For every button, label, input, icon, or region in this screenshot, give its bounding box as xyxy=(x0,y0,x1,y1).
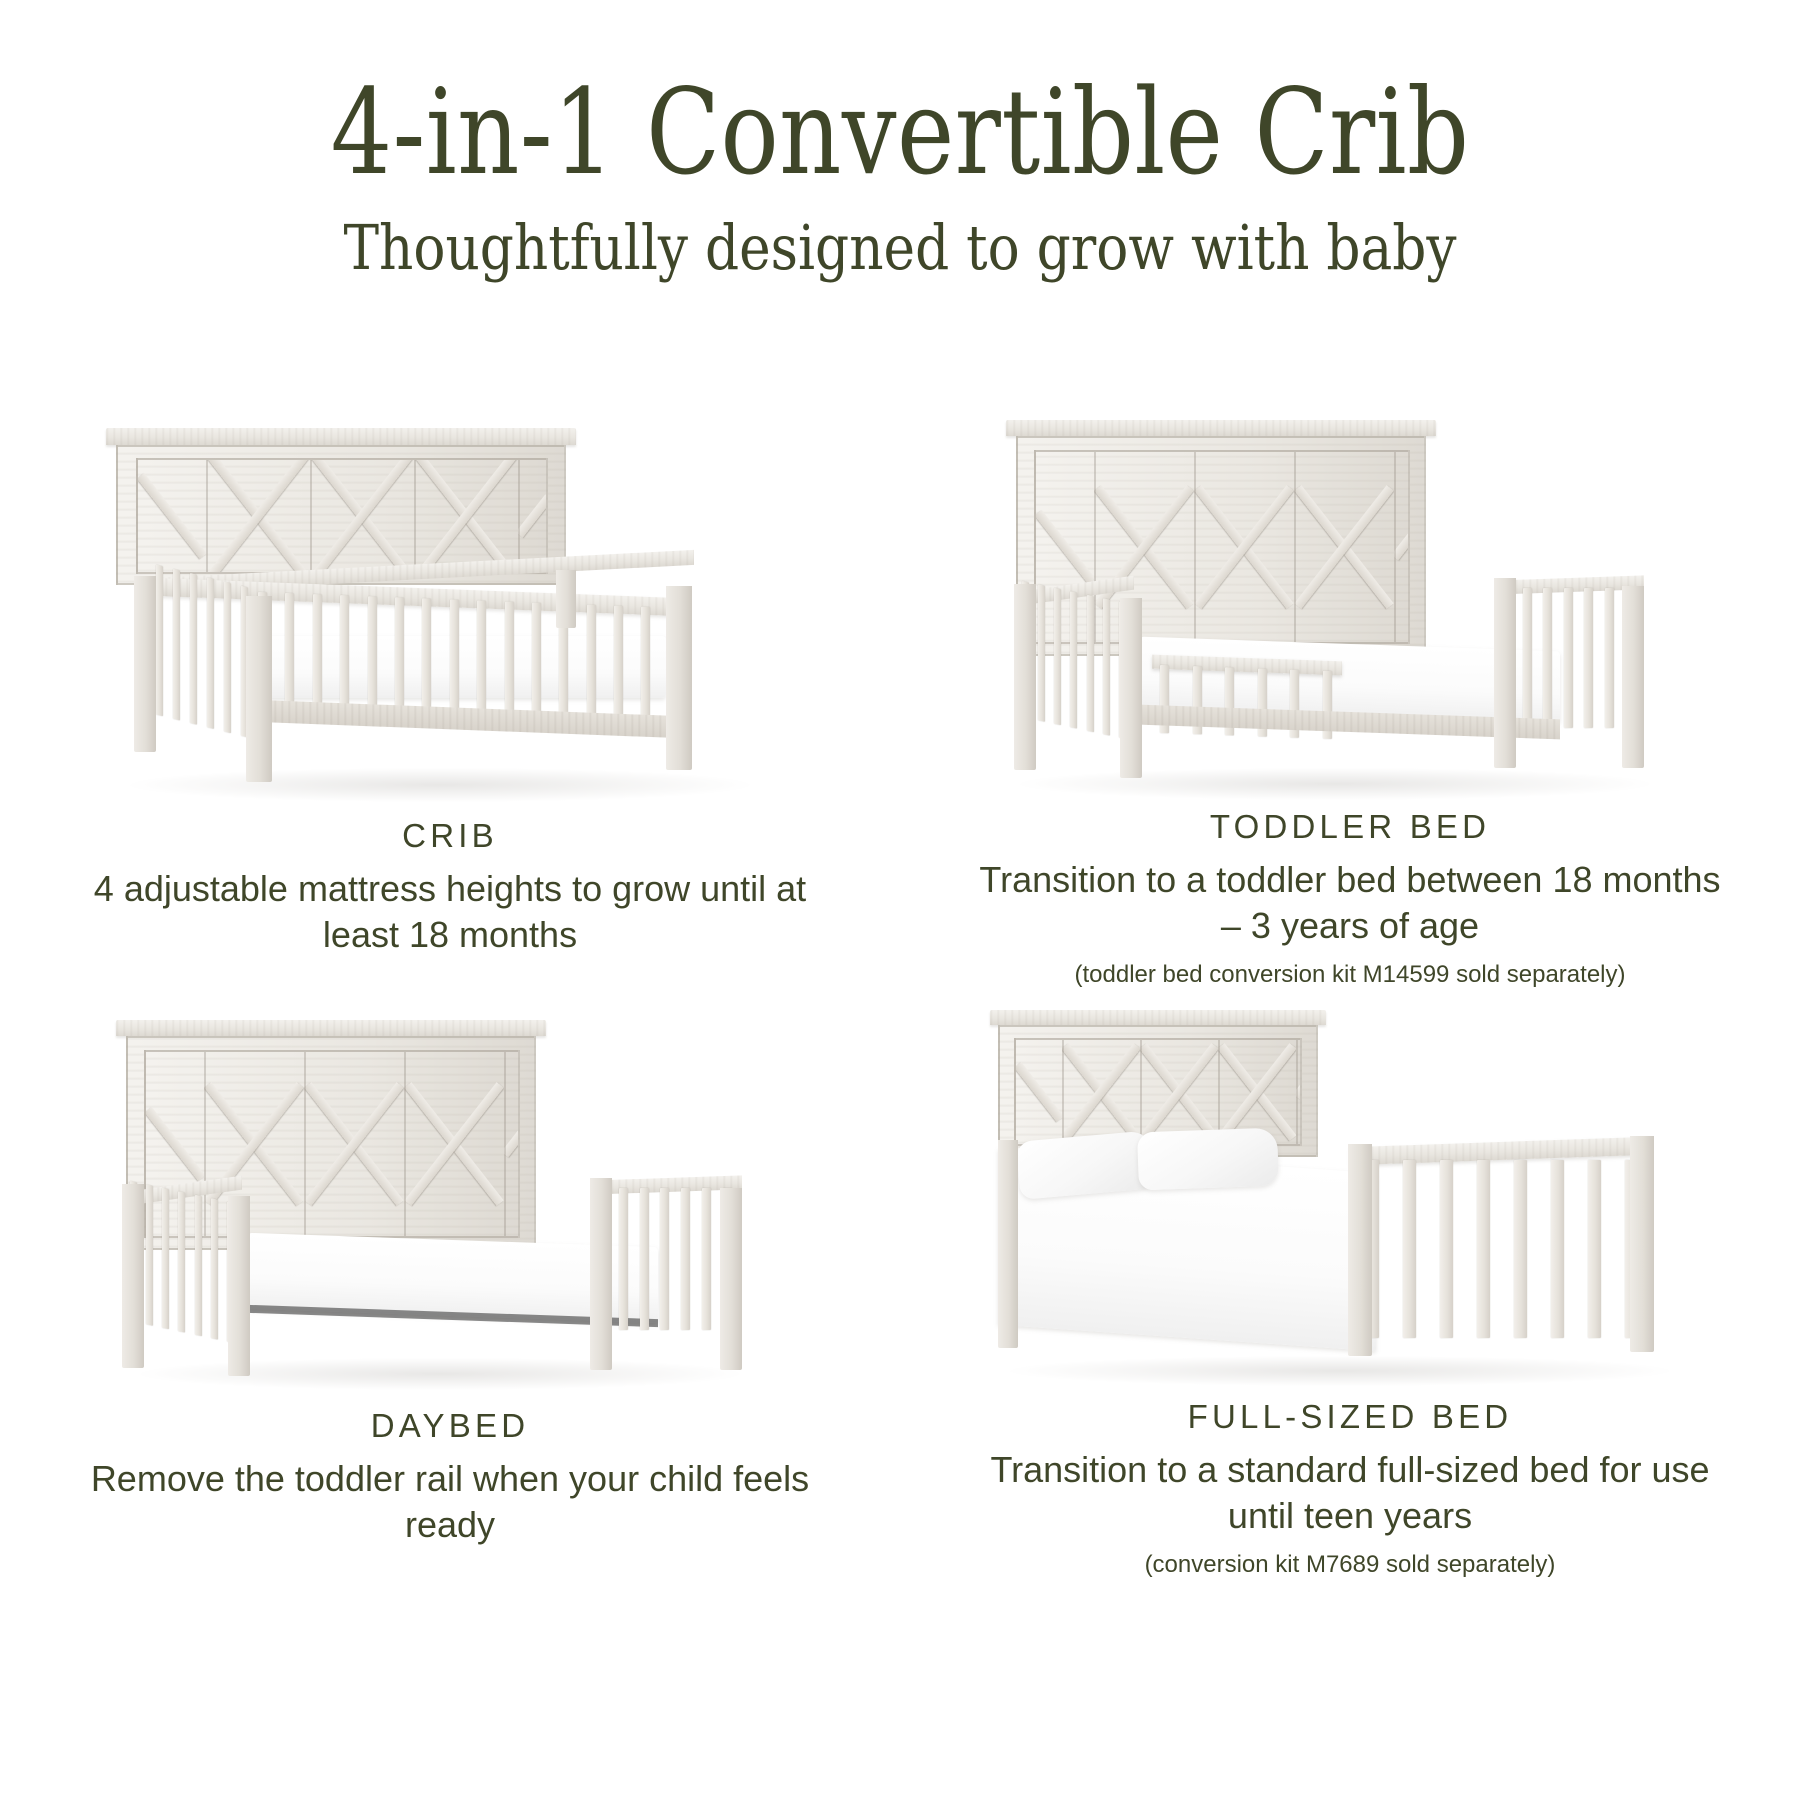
barn-x-cell xyxy=(1016,1040,1062,1144)
barn-x-cell xyxy=(414,460,518,572)
panel-full-sized-bed: FULL-SIZED BED Transition to a standard … xyxy=(900,990,1800,1580)
crib-leg-front-left xyxy=(246,596,272,782)
barn-x-cell xyxy=(1062,1040,1140,1144)
full-bed-headboard-post xyxy=(998,1140,1018,1348)
slat xyxy=(1087,595,1094,732)
pillow-left xyxy=(1016,1130,1157,1200)
slat xyxy=(1564,588,1573,728)
feature-grid: CRIB 4 adjustable mattress heights to gr… xyxy=(0,400,1800,1580)
daybed-heading: DAYBED xyxy=(70,1406,830,1446)
slat xyxy=(1543,588,1552,728)
toddler-leg-rear-right xyxy=(1494,578,1516,768)
full-bed-post-right xyxy=(1630,1136,1654,1352)
barn-x-cell xyxy=(138,460,206,572)
panel-daybed: DAYBED Remove the toddler rail when your… xyxy=(0,990,900,1580)
slat xyxy=(146,1184,153,1325)
crib-heading: CRIB xyxy=(70,816,830,856)
crib-leg-front-right xyxy=(666,586,692,770)
daybed-leg-front-left xyxy=(228,1196,250,1376)
crib-illustration xyxy=(70,400,830,810)
slat xyxy=(641,607,650,725)
slat xyxy=(173,569,180,721)
slat xyxy=(614,606,623,724)
infographic-page: 4-in-1 Convertible Crib Thoughtfully des… xyxy=(0,0,1800,1800)
slat xyxy=(178,1191,185,1332)
floor-shadow xyxy=(130,768,750,802)
barn-x-cell xyxy=(304,1052,404,1236)
slat xyxy=(1523,588,1532,728)
slat xyxy=(619,1188,628,1330)
full-sized-bed-illustration xyxy=(970,990,1730,1391)
slat xyxy=(450,599,459,717)
slat xyxy=(156,565,163,717)
plank-seam xyxy=(310,460,312,572)
slat xyxy=(207,577,214,729)
crib-headboard-barn-panel xyxy=(136,458,548,574)
slat xyxy=(505,601,514,719)
slat xyxy=(368,596,377,714)
slat xyxy=(1477,1160,1490,1338)
slat xyxy=(702,1188,711,1330)
plank-seam xyxy=(206,460,208,572)
plank-seam xyxy=(304,1052,306,1236)
slat xyxy=(224,581,231,733)
plank-seam xyxy=(1394,452,1396,642)
slat xyxy=(1514,1160,1527,1338)
toddler-bed-body: Transition to a toddler bed between 18 m… xyxy=(970,857,1730,949)
barn-x-cell xyxy=(518,460,548,572)
page-title: 4-in-1 Convertible Crib xyxy=(162,72,1638,192)
plank-seam xyxy=(1218,1040,1220,1144)
toddler-bed-illustration xyxy=(970,400,1730,801)
plank-seam xyxy=(1294,452,1296,642)
slat xyxy=(681,1188,690,1330)
plank-seam xyxy=(1062,1040,1064,1144)
full-sized-bed-caption: FULL-SIZED BED Transition to a standard … xyxy=(970,1397,1730,1580)
daybed-body: Remove the toddler rail when your child … xyxy=(70,1456,830,1548)
slat xyxy=(395,597,404,715)
plank-seam xyxy=(504,1052,506,1236)
slat xyxy=(1103,598,1110,735)
toddler-left-slat-group xyxy=(1022,581,1126,739)
daybed-right-slat-group xyxy=(598,1188,732,1330)
toddler-leg-front-right xyxy=(1622,586,1644,768)
panel-toddler-bed: TODDLER BED Transition to a toddler bed … xyxy=(900,400,1800,990)
daybed-leg-rear-right xyxy=(590,1178,612,1370)
page-subtitle: Thoughtfully designed to grow with baby xyxy=(126,214,1674,282)
daybed-left-slat-group xyxy=(130,1181,234,1343)
crib-crown-rail xyxy=(106,428,576,445)
plank-seam xyxy=(1296,1040,1298,1144)
slat xyxy=(1605,588,1614,728)
daybed-caption: DAYBED Remove the toddler rail when your… xyxy=(70,1406,830,1548)
barn-x-cell xyxy=(1194,452,1294,642)
slat xyxy=(422,598,431,716)
daybed-leg-rear-left xyxy=(122,1184,144,1368)
crib-body: 4 adjustable mattress heights to grow un… xyxy=(70,866,830,958)
header: 4-in-1 Convertible Crib Thoughtfully des… xyxy=(0,0,1800,283)
plank-seam xyxy=(1194,452,1196,642)
daybed-leg-front-right xyxy=(720,1188,742,1370)
slat xyxy=(1584,588,1593,728)
plank-seam xyxy=(1140,1040,1142,1144)
full-sized-bed-fine-print: (conversion kit M7689 sold separately) xyxy=(970,1549,1730,1580)
slat xyxy=(1440,1160,1453,1338)
slat xyxy=(477,600,486,718)
barn-x-cell xyxy=(310,460,414,572)
slat xyxy=(660,1188,669,1330)
toddler-leg-rear-left xyxy=(1014,584,1036,770)
barn-x-cell xyxy=(504,1052,520,1236)
plank-seam xyxy=(518,460,520,572)
slat xyxy=(1038,584,1045,721)
plank-seam xyxy=(414,460,416,572)
slat xyxy=(162,1188,169,1329)
crib-caption: CRIB 4 adjustable mattress heights to gr… xyxy=(70,816,830,958)
full-bed-post-left xyxy=(1348,1144,1372,1356)
toddler-crown-rail xyxy=(1006,420,1436,436)
toddler-right-slat-group xyxy=(1502,588,1634,728)
full-sized-bed-heading: FULL-SIZED BED xyxy=(970,1397,1730,1437)
pillow-right xyxy=(1137,1128,1279,1191)
full-bed-slat-group xyxy=(1366,1160,1638,1338)
crib-left-slat-group xyxy=(156,565,248,738)
slat xyxy=(640,1188,649,1330)
toddler-bed-heading: TODDLER BED xyxy=(970,807,1730,847)
full-sized-bed-body: Transition to a standard full-sized bed … xyxy=(970,1447,1730,1539)
daybed-crown-rail xyxy=(116,1020,546,1036)
panel-crib: CRIB 4 adjustable mattress heights to gr… xyxy=(0,400,900,990)
slat xyxy=(587,605,596,723)
slat xyxy=(1403,1160,1416,1338)
slat xyxy=(1054,588,1061,725)
slat xyxy=(1551,1160,1564,1338)
barn-x-cell xyxy=(1394,452,1410,642)
slat xyxy=(340,595,349,713)
slat xyxy=(313,594,322,712)
slat xyxy=(195,1195,202,1336)
daybed-illustration xyxy=(70,990,830,1400)
barn-x-cell xyxy=(206,460,310,572)
crib-leg-rear-right xyxy=(556,570,576,628)
toddler-leg-front-left xyxy=(1120,598,1142,778)
slat xyxy=(211,1198,218,1339)
slat xyxy=(1588,1160,1601,1338)
slat xyxy=(532,602,541,720)
plank-seam xyxy=(404,1052,406,1236)
barn-x-cell xyxy=(1140,1040,1218,1144)
slat xyxy=(285,593,294,711)
full-bed-crown-rail xyxy=(990,1010,1326,1025)
barn-x-cell xyxy=(1294,452,1394,642)
crib-leg-rear-left xyxy=(134,576,156,752)
toddler-bed-fine-print: (toddler bed conversion kit M14599 sold … xyxy=(970,959,1730,990)
toddler-bed-caption: TODDLER BED Transition to a toddler bed … xyxy=(970,807,1730,990)
floor-shadow xyxy=(1010,1356,1670,1386)
slat xyxy=(1070,591,1077,728)
floor-shadow xyxy=(1020,768,1650,800)
slat xyxy=(190,573,197,725)
barn-x-cell xyxy=(404,1052,504,1236)
